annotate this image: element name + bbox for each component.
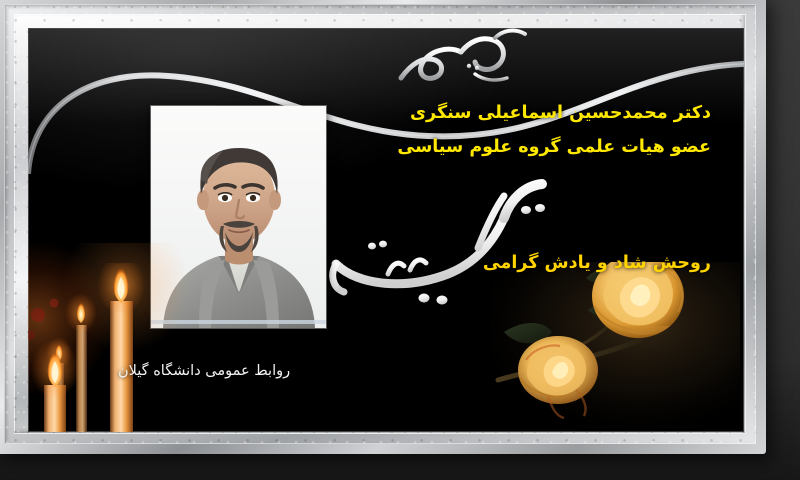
deceased-info: دکتر محمدحسین اسماعیلی سنگری عضو هیات عل… <box>397 100 711 168</box>
portrait-illustration-icon <box>151 106 326 328</box>
deceased-name: دکتر محمدحسین اسماعیلی سنگری <box>397 100 711 127</box>
roses-icon <box>490 262 740 432</box>
calligraphy-hu-al-baqi-icon <box>383 28 543 90</box>
deceased-title: عضو هیات علمی گروه علوم سیاسی <box>397 134 711 161</box>
card-canvas: دکتر محمدحسین اسماعیلی سنگری عضو هیات عل… <box>28 28 744 432</box>
condolence-card: دکتر محمدحسین اسماعیلی سنگری عضو هیات عل… <box>0 0 800 480</box>
calligraphy-tasliyat-icon <box>328 178 578 313</box>
condolence-message: روحش شاد و یادش گرامی <box>483 250 711 277</box>
portrait-photo <box>151 106 326 328</box>
signature-organization: روابط عمومی دانشگاه گیلان <box>118 360 290 382</box>
